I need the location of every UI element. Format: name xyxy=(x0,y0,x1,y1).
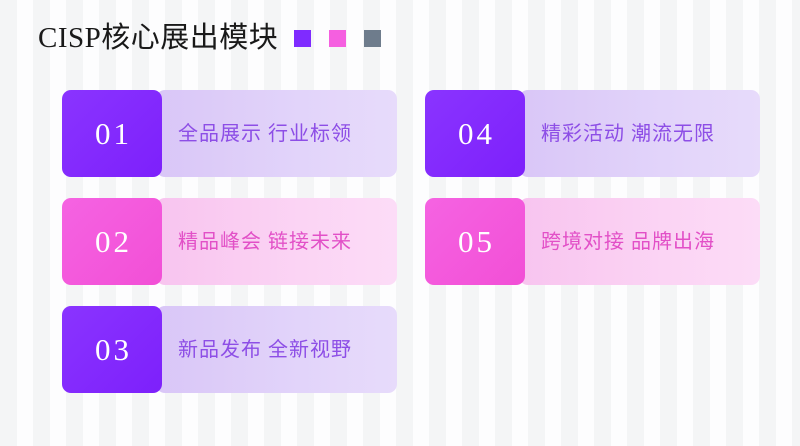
module-card-05[interactable]: 05 跨境对接 品牌出海 xyxy=(425,198,760,285)
card-label: 精彩活动 潮流无限 xyxy=(519,124,715,144)
card-number: 01 xyxy=(92,118,132,149)
page-title: CISP核心展出模块 xyxy=(38,24,278,53)
module-card-grid: 01 全品展示 行业标领 02 精品峰会 链接未来 03 新品发布 全新视野 xyxy=(62,90,753,375)
module-card-04[interactable]: 04 精彩活动 潮流无限 xyxy=(425,90,760,177)
card-number: 05 xyxy=(455,226,495,257)
card-number-block: 03 xyxy=(62,306,162,393)
card-body: 精彩活动 潮流无限 xyxy=(519,90,760,177)
card-label: 全品展示 行业标领 xyxy=(156,124,352,144)
slide-title-row: CISP核心展出模块 xyxy=(38,18,381,58)
card-body: 全品展示 行业标领 xyxy=(156,90,397,177)
swatch-slate-icon xyxy=(364,30,381,47)
card-label: 新品发布 全新视野 xyxy=(156,340,352,360)
card-body: 跨境对接 品牌出海 xyxy=(519,198,760,285)
card-body: 精品峰会 链接未来 xyxy=(156,198,397,285)
module-card-03[interactable]: 03 新品发布 全新视野 xyxy=(62,306,397,393)
swatch-purple-icon xyxy=(294,30,311,47)
card-body: 新品发布 全新视野 xyxy=(156,306,397,393)
swatch-pink-icon xyxy=(329,30,346,47)
card-number-block: 01 xyxy=(62,90,162,177)
card-number-block: 04 xyxy=(425,90,525,177)
card-label: 跨境对接 品牌出海 xyxy=(519,232,715,252)
card-number-block: 05 xyxy=(425,198,525,285)
module-card-02[interactable]: 02 精品峰会 链接未来 xyxy=(62,198,397,285)
card-number: 04 xyxy=(455,118,495,149)
slide-canvas: CISP核心展出模块 01 全品展示 行业标领 02 精品峰会 链接未来 xyxy=(0,0,800,446)
card-number: 02 xyxy=(92,226,132,257)
card-number-block: 02 xyxy=(62,198,162,285)
card-number: 03 xyxy=(92,334,132,365)
module-card-01[interactable]: 01 全品展示 行业标领 xyxy=(62,90,397,177)
card-label: 精品峰会 链接未来 xyxy=(156,232,352,252)
color-swatch-group xyxy=(294,30,381,47)
